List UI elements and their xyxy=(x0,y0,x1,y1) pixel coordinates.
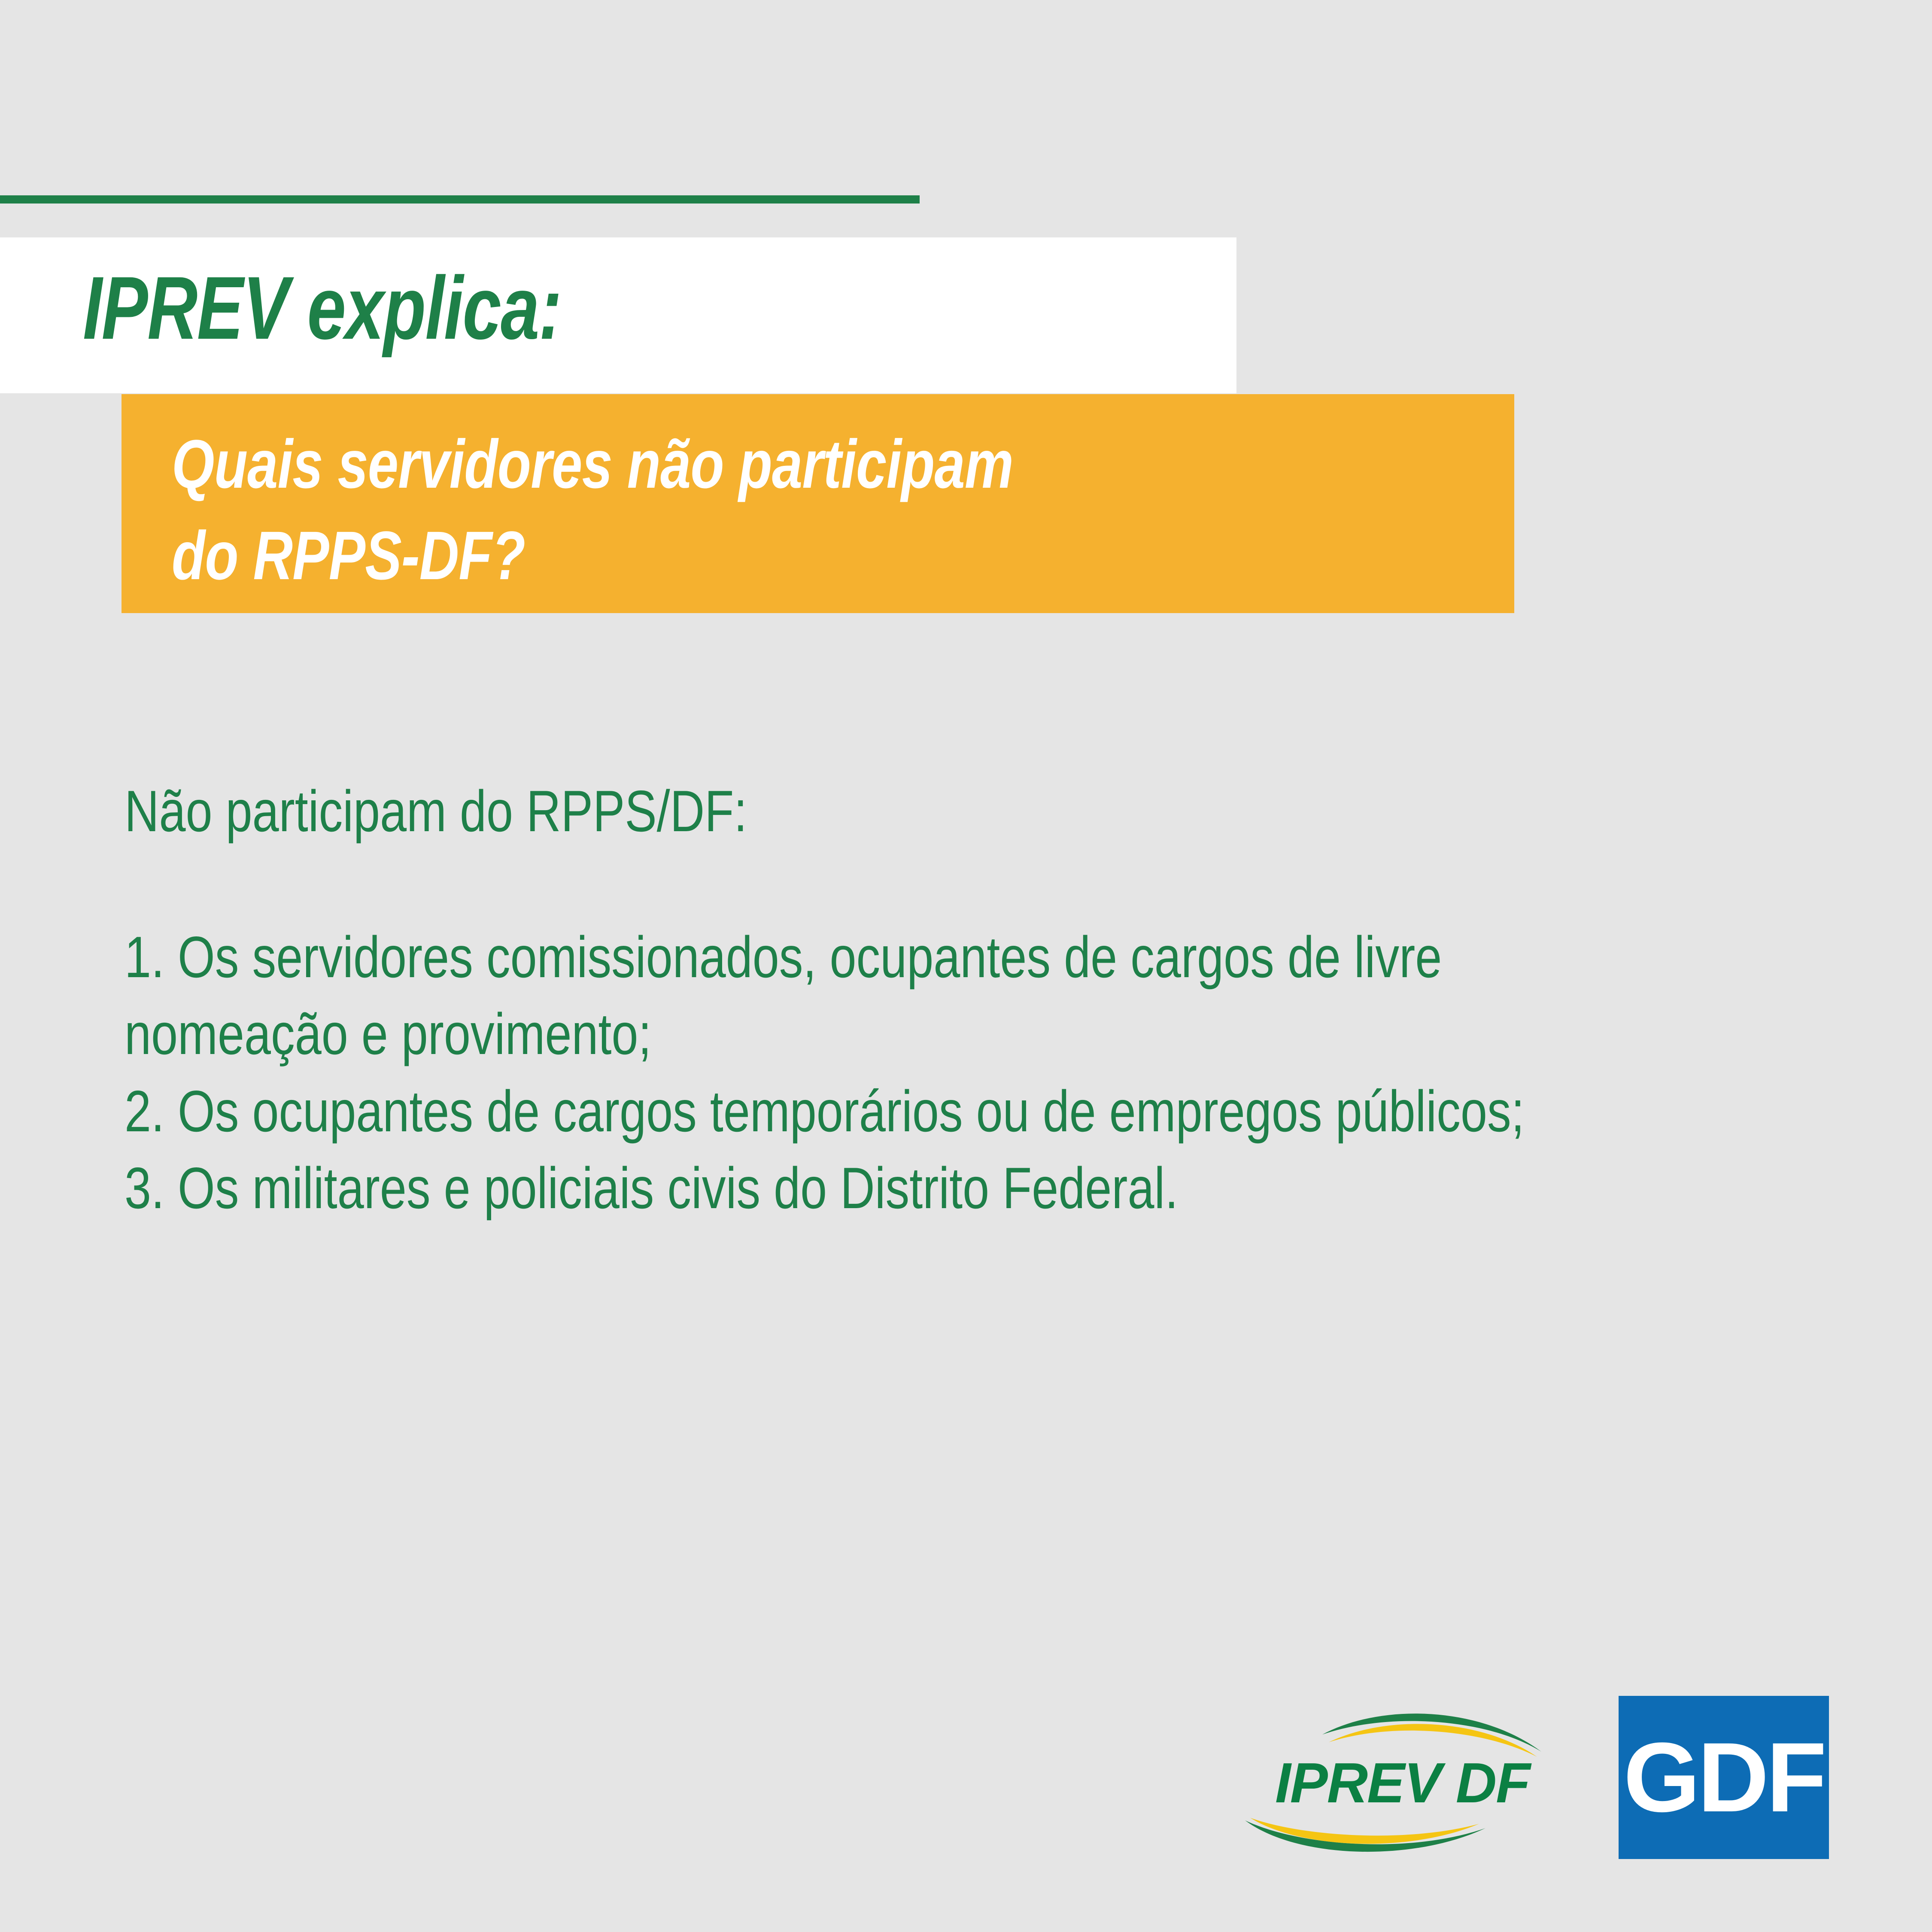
body-item-1b: nomeação e provimento; xyxy=(125,996,1498,1073)
question-heading: Quais servidores não participam do RPPS-… xyxy=(172,419,1013,601)
page-title: IPREV explica: xyxy=(83,264,561,353)
body-item-2: 2. Os ocupantes de cargos temporários ou… xyxy=(125,1073,1498,1150)
body-spacer xyxy=(125,850,1498,919)
question-line-2: do RPPS-DF? xyxy=(172,510,1013,601)
body-copy: Não participam do RPPS/DF: 1. Os servido… xyxy=(125,773,1498,1227)
body-item-1a: 1. Os servidores comissionados, ocupante… xyxy=(125,919,1498,996)
body-intro: Não participam do RPPS/DF: xyxy=(125,773,1498,850)
question-line-1: Quais servidores não participam xyxy=(172,419,1013,510)
gdf-wordmark: GDF xyxy=(1619,1696,1829,1859)
body-item-3: 3. Os militares e policiais civis do Dis… xyxy=(125,1150,1498,1227)
iprev-df-logo: IPREV DF xyxy=(1241,1692,1601,1863)
gdf-logo: GDF xyxy=(1619,1696,1829,1859)
iprev-wordmark: IPREV DF xyxy=(1275,1751,1532,1814)
footer-logo-group: IPREV DF GDF xyxy=(1241,1692,1863,1876)
top-green-rule xyxy=(0,195,920,204)
iprev-logo-graphic: IPREV DF xyxy=(1241,1692,1601,1863)
